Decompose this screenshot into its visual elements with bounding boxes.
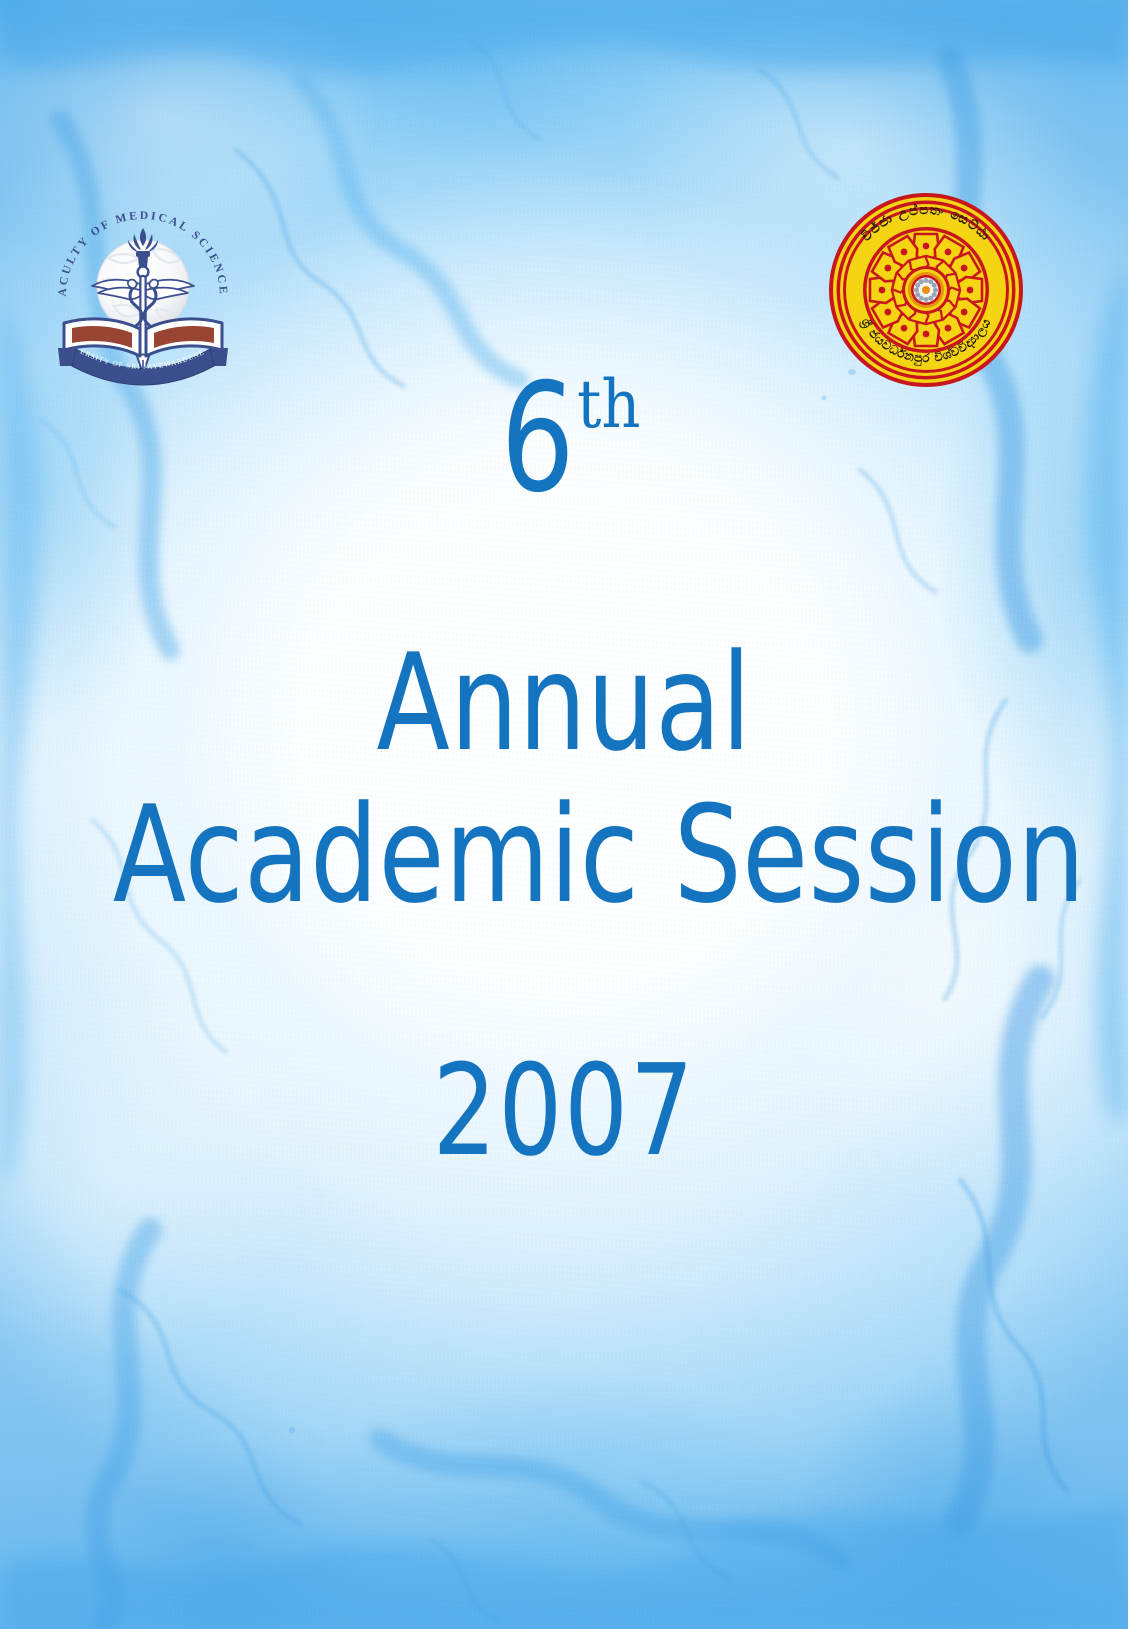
cover-title-line-2: Academic Session — [113, 788, 1015, 922]
faculty-of-medical-sciences-crest: FACULTY OF MEDICAL SCIENCES — [48, 188, 238, 398]
session-ordinal: 6 th — [0, 368, 1128, 518]
session-ordinal-number: 6 — [498, 368, 575, 511]
cover-page: FACULTY OF MEDICAL SCIENCES — [0, 0, 1128, 1629]
cover-year: 2007 — [113, 1048, 1015, 1174]
cover-title-line-1: Annual — [113, 636, 1015, 770]
session-ordinal-suffix: th — [577, 372, 641, 438]
university-of-sri-jayewardenepura-seal: විජ්ජා උප්පතං සෙට්ඨා ශ්‍රී ජයවර්ධනපුර වි… — [826, 190, 1026, 390]
